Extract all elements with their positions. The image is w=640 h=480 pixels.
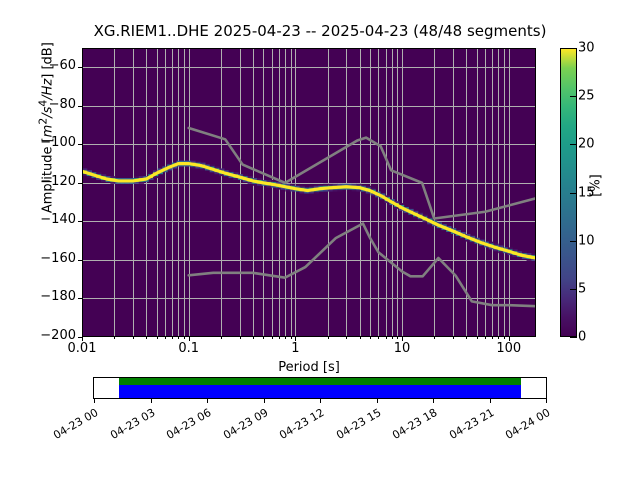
x-axis-minor-tick-mark	[485, 337, 486, 339]
density-cell	[323, 184, 328, 186]
density-cell	[229, 170, 234, 172]
density-cell	[252, 184, 257, 186]
x-axis-minor-tick-mark	[466, 337, 467, 339]
colorbar-tick-label: 0	[578, 330, 586, 345]
y-axis-tick-mark	[78, 144, 82, 145]
density-cell	[300, 192, 305, 194]
density-cell	[489, 242, 494, 244]
density-cell	[498, 251, 503, 253]
density-cell	[493, 244, 498, 246]
density-cell	[257, 178, 262, 180]
x-axis-minor-tick-mark	[157, 337, 158, 339]
density-cell	[134, 176, 139, 178]
timeline-tick-mark	[264, 399, 265, 403]
density-cell	[110, 182, 115, 184]
timeline-tick-label: 04-23 00	[40, 406, 100, 448]
colorbar-tick-mark	[570, 241, 577, 242]
x-axis-minor-tick-mark	[453, 337, 454, 339]
density-cell	[527, 259, 532, 261]
timeline-tick-label: 04-23 15	[323, 406, 383, 448]
nhnm-noise-model-curve	[189, 128, 536, 219]
density-cell	[233, 172, 238, 174]
density-cell	[309, 186, 314, 188]
colorbar-tick-mark	[570, 193, 577, 194]
y-axis-tick-mark	[78, 221, 82, 222]
x-axis-minor-tick-mark	[221, 337, 222, 339]
timeline-tick-mark	[490, 399, 491, 403]
density-cell	[243, 174, 248, 176]
density-cell	[352, 184, 357, 186]
density-cell	[370, 188, 375, 190]
x-axis-tick-label: 0.01	[68, 341, 97, 356]
density-cell	[266, 186, 271, 188]
x-axis-minor-tick-mark	[397, 337, 398, 339]
density-cell	[333, 190, 338, 192]
density-cell	[200, 168, 205, 170]
density-cell	[300, 186, 305, 188]
timeline-tick-label: 04-24 00	[492, 406, 552, 448]
density-cell	[139, 182, 144, 184]
x-axis-minor-tick-mark	[392, 337, 393, 339]
density-cell	[465, 240, 470, 242]
colorbar-tick-mark	[570, 48, 577, 49]
density-cell	[139, 176, 144, 178]
x-axis-minor-tick-mark	[253, 337, 254, 339]
timeline-tick-label: 04-23 09	[210, 406, 270, 448]
colorbar-tick-label: 30	[578, 41, 595, 56]
density-cell	[531, 253, 536, 255]
ppsd-density-overlay	[82, 48, 536, 337]
x-axis-minor-tick-mark	[477, 337, 478, 339]
density-cell	[191, 166, 196, 168]
y-axis-tick-mark	[78, 67, 82, 68]
x-axis-minor-tick-mark	[146, 337, 147, 339]
colorbar-tick-mark	[570, 144, 577, 145]
x-axis-minor-tick-mark	[492, 337, 493, 339]
timeline-coverage-bar[interactable]	[93, 377, 547, 399]
density-cell	[333, 184, 338, 186]
density-cell	[337, 190, 342, 192]
colorbar-tick-mark	[570, 96, 577, 97]
y-axis-tick-label: −180	[16, 289, 76, 304]
x-axis-minor-tick-mark	[114, 337, 115, 339]
density-cell	[96, 172, 101, 174]
colorbar-tick-mark	[570, 289, 577, 290]
density-cell	[233, 178, 238, 180]
timeline-tick-mark	[320, 399, 321, 403]
y-axis-tick-mark	[78, 183, 82, 184]
density-cell	[219, 174, 224, 176]
density-cell	[470, 242, 475, 244]
colorbar-label: [%]	[589, 146, 604, 226]
density-cell	[271, 180, 276, 182]
timeline-tick-mark	[433, 399, 434, 403]
timeline-tick-label: 04-23 12	[266, 406, 326, 448]
density-cell	[82, 174, 87, 176]
colorbar-tick-label: 5	[578, 281, 586, 296]
x-axis-minor-tick-mark	[263, 337, 264, 339]
ppsd-mode-ridge	[82, 164, 536, 258]
x-axis-minor-tick-mark	[178, 337, 179, 339]
x-axis-minor-tick-mark	[240, 337, 241, 339]
density-cell	[191, 161, 196, 163]
density-cell	[328, 190, 333, 192]
nlnm-noise-model-curve	[189, 224, 536, 307]
density-cell	[356, 184, 361, 186]
timeline-tick-mark	[546, 399, 547, 403]
density-cell	[285, 190, 290, 192]
timeline-tick-label: 04-23 06	[153, 406, 213, 448]
x-axis-minor-tick-mark	[165, 337, 166, 339]
timeline-tick-label: 04-23 21	[436, 406, 496, 448]
density-cell	[522, 251, 527, 253]
density-cell	[290, 184, 295, 186]
timeline-tick-mark	[207, 399, 208, 403]
x-axis-minor-tick-mark	[172, 337, 173, 339]
density-cell	[276, 188, 281, 190]
x-axis-tick-label: 0.1	[178, 341, 199, 356]
timeline-segment-blue	[119, 385, 521, 398]
x-axis-minor-tick-mark	[279, 337, 280, 339]
density-cell	[266, 180, 271, 182]
timeline-tick-mark	[377, 399, 378, 403]
timeline-tick-label: 04-23 18	[379, 406, 439, 448]
x-axis-minor-tick-mark	[370, 337, 371, 339]
density-cell	[87, 176, 92, 178]
x-axis-minor-tick-mark	[184, 337, 185, 339]
ppsd-plot-area[interactable]	[82, 48, 536, 337]
x-axis-minor-tick-mark	[291, 337, 292, 339]
density-cell	[110, 176, 115, 178]
density-cell	[210, 165, 215, 167]
x-axis-minor-tick-mark	[272, 337, 273, 339]
density-cell	[214, 166, 219, 168]
y-axis-tick-mark	[78, 106, 82, 107]
density-cell	[352, 190, 357, 192]
y-axis-label: Amplitude [m2/s4/Hz] [dB]	[36, 18, 55, 238]
x-axis-minor-tick-mark	[504, 337, 505, 339]
density-cell	[248, 176, 253, 178]
density-cell	[356, 190, 361, 192]
density-cell	[427, 217, 432, 219]
x-axis-minor-tick-mark	[386, 337, 387, 339]
density-cell	[328, 184, 333, 186]
x-axis-minor-tick-mark	[285, 337, 286, 339]
density-cell	[366, 186, 371, 188]
y-axis-tick-mark	[78, 298, 82, 299]
x-axis-label: Period [s]	[0, 360, 618, 375]
ppsd-figure: XG.RIEM1..DHE 2025-04-23 -- 2025-04-23 (…	[0, 0, 640, 480]
y-axis-tick-mark	[78, 260, 82, 261]
x-axis-minor-tick-mark	[498, 337, 499, 339]
x-axis-minor-tick-mark	[346, 337, 347, 339]
x-axis-minor-tick-mark	[360, 337, 361, 339]
x-axis-minor-tick-mark	[328, 337, 329, 339]
x-axis-minor-tick-mark	[378, 337, 379, 339]
colorbar-tick-label: 25	[578, 89, 595, 104]
timeline-tick-mark	[94, 399, 95, 403]
x-axis-minor-tick-mark	[133, 337, 134, 339]
colorbar-tick-mark	[570, 337, 577, 338]
density-cell	[196, 161, 201, 163]
density-cell	[167, 163, 172, 165]
density-cell	[517, 257, 522, 259]
x-axis-tick-label: 100	[496, 341, 521, 356]
timeline-tick-label: 04-23 03	[97, 406, 157, 448]
density-cell	[460, 238, 465, 240]
x-axis-tick-label: 10	[394, 341, 411, 356]
x-axis-tick-label: 1	[291, 341, 299, 356]
x-axis-minor-tick-mark	[434, 337, 435, 339]
density-cell	[508, 247, 513, 249]
timeline-segment-green	[119, 378, 521, 385]
density-cell	[314, 192, 319, 194]
page-title: XG.RIEM1..DHE 2025-04-23 -- 2025-04-23 (…	[0, 22, 640, 40]
colorbar-tick-label: 10	[578, 233, 595, 248]
y-axis-tick-label: −160	[16, 251, 76, 266]
timeline-tick-mark	[151, 399, 152, 403]
